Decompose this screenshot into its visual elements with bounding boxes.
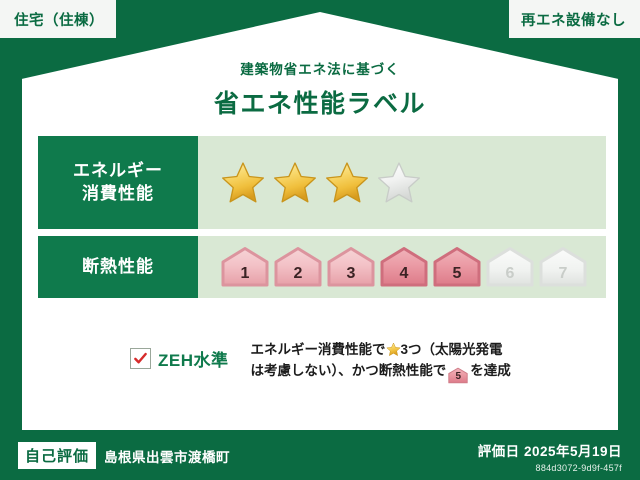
star-rating (220, 160, 422, 206)
insulation-chip: 4 (379, 245, 429, 289)
row-label-energy-line2: 消費性能 (82, 184, 154, 203)
badge-building-type: 住宅（住棟） (0, 0, 116, 38)
insulation-chip-value: 1 (241, 266, 250, 289)
row-value-energy (198, 136, 606, 229)
zeh-description: エネルギー消費性能で3つ（太陽光発電 は考慮しない）、かつ断熱性能で5を達成 (251, 340, 511, 384)
insulation-chip-value: 2 (294, 266, 303, 289)
zeh-desc-part2: は考慮しない）、かつ断熱性能で (251, 363, 447, 378)
insulation-chip: 6 (485, 245, 535, 289)
self-evaluation-badge: 自己評価 (18, 442, 96, 469)
badge-renewable-energy: 再エネ設備なし (509, 0, 640, 38)
zeh-desc-chip: 5 (448, 367, 468, 384)
star-icon-empty (376, 160, 422, 206)
footer: 自己評価 島根県出雲市渡橋町 評価日 2025年5月19日 884d3072-9… (0, 432, 640, 480)
zeh-desc-star-count: 3つ（太陽光発電 (401, 342, 503, 357)
footer-left: 自己評価 島根県出雲市渡橋町 (18, 442, 230, 469)
row-label-insulation: 断熱性能 (38, 236, 198, 298)
zeh-section: ZEH水準 エネルギー消費性能で3つ（太陽光発電 は考慮しない）、かつ断熱性能で… (38, 340, 606, 384)
star-icon-inline (386, 342, 401, 357)
zeh-checkbox[interactable] (130, 348, 151, 369)
star-icon-filled (220, 160, 266, 206)
insulation-chip-value: 7 (559, 266, 568, 289)
zeh-standard-group: ZEH水準 (130, 346, 229, 371)
evaluation-date: 評価日 2025年5月19日 (478, 440, 622, 460)
insulation-chip: 5 (432, 245, 482, 289)
zeh-desc-part3: を達成 (470, 363, 511, 378)
check-icon (133, 351, 148, 366)
zeh-desc-part1: エネルギー消費性能で (251, 342, 386, 357)
row-label-energy: エネルギー 消費性能 (38, 136, 198, 229)
footer-right: 評価日 2025年5月19日 884d3072-9d9f-457f (478, 440, 622, 473)
property-address: 島根県出雲市渡橋町 (104, 446, 230, 466)
star-icon-filled (324, 160, 370, 206)
title-subtitle: 建築物省エネ法に基づく (0, 58, 640, 78)
insulation-chip-value: 5 (453, 266, 462, 289)
insulation-chip: 3 (326, 245, 376, 289)
evaluation-id: 884d3072-9d9f-457f (478, 463, 622, 473)
title-block: 建築物省エネ法に基づく 省エネ性能ラベル (0, 58, 640, 120)
energy-performance-label: 住宅（住棟） 再エネ設備なし 建築物省エネ法に基づく 省エネ性能ラベル エネルギ… (0, 0, 640, 480)
insulation-chip-value: 4 (400, 266, 409, 289)
title-main: 省エネ性能ラベル (0, 84, 640, 120)
insulation-chip: 1 (220, 245, 270, 289)
row-insulation-performance: 断熱性能 1234567 (38, 236, 606, 298)
zeh-desc-chip-value: 5 (448, 367, 468, 382)
insulation-chip: 7 (538, 245, 588, 289)
insulation-chip: 2 (273, 245, 323, 289)
insulation-grade-chips: 1234567 (220, 245, 588, 289)
insulation-chip-value: 6 (506, 266, 515, 289)
star-icon-filled (272, 160, 318, 206)
row-energy-performance: エネルギー 消費性能 (38, 136, 606, 229)
zeh-label: ZEH水準 (158, 346, 229, 371)
row-label-energy-line1: エネルギー (73, 161, 163, 180)
insulation-chip-value: 3 (347, 266, 356, 289)
row-value-insulation: 1234567 (198, 236, 606, 298)
